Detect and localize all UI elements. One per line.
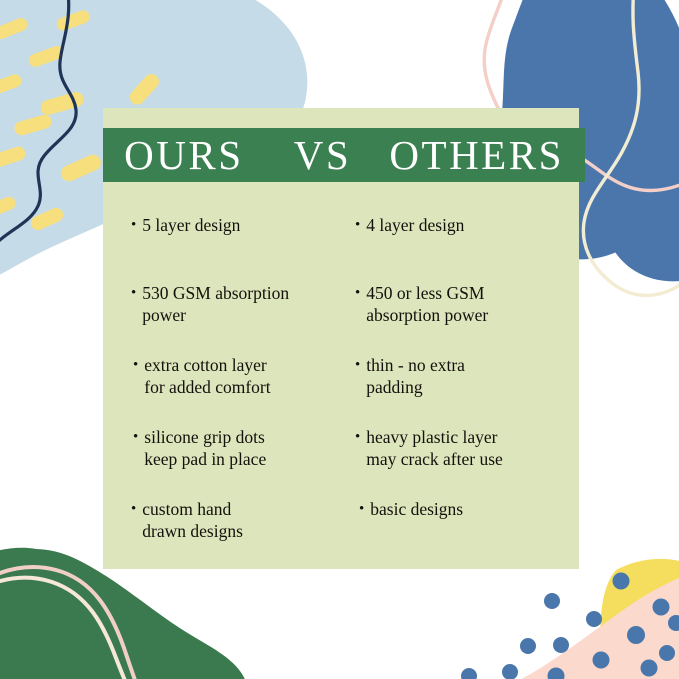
top-right-blue-blob-lobe-icon (603, 118, 679, 281)
header-band: OURS VS OTHERS (103, 128, 585, 182)
list-item: • heavy plastic layer may crack after us… (355, 426, 593, 470)
list-item: • silicone grip dots keep pad in place (133, 426, 371, 470)
bullet-icon: • (355, 282, 360, 304)
bullet-icon: • (355, 354, 360, 376)
column-ours: • 5 layer design • 530 GSM absorption po… (103, 192, 341, 569)
cream-curve-line-icon (0, 578, 140, 679)
list-item-label: 530 GSM absorption power (142, 282, 289, 326)
list-item: • 530 GSM absorption power (131, 282, 369, 326)
bottom-left-green-blob-lobe-icon (0, 548, 100, 661)
list-item-label: thin - no extra padding (366, 354, 465, 398)
poster-canvas: OURS VS OTHERS • 5 layer design • 530 GS… (0, 0, 679, 679)
bullet-icon: • (133, 354, 138, 376)
bullet-icon: • (131, 498, 136, 520)
page-title: OURS VS OTHERS (124, 135, 564, 176)
list-item: • thin - no extra padding (355, 354, 593, 398)
list-item-label: basic designs (370, 498, 463, 520)
cream-wavy-line-icon (583, 0, 679, 295)
bullet-icon: • (131, 214, 136, 236)
list-item: • 450 or less GSM absorption power (355, 282, 593, 326)
bullet-icon: • (355, 426, 360, 448)
list-item-label: 5 layer design (142, 214, 240, 236)
list-item-label: 4 layer design (366, 214, 464, 236)
bullet-icon: • (359, 498, 364, 520)
bullet-icon: • (355, 214, 360, 236)
bottom-right-pink-blob-body-icon (420, 556, 679, 679)
bottom-right-yellow-blob-icon (600, 559, 679, 679)
blue-dot-scatter-icon (461, 573, 679, 679)
navy-wavy-line-icon (0, 0, 76, 300)
comparison-card: OURS VS OTHERS • 5 layer design • 530 GS… (103, 108, 579, 569)
list-item: • extra cotton layer for added comfort (133, 354, 371, 398)
list-item: • 4 layer design (355, 214, 593, 236)
bottom-right-pink-blob-icon (436, 560, 679, 679)
columns-container: • 5 layer design • 530 GSM absorption po… (103, 192, 579, 569)
bullet-icon: • (131, 282, 136, 304)
list-item-label: silicone grip dots keep pad in place (144, 426, 266, 470)
pink-curve-line-icon (0, 567, 148, 679)
list-item: • basic designs (359, 498, 597, 520)
list-item-label: 450 or less GSM absorption power (366, 282, 488, 326)
list-item-label: custom hand drawn designs (142, 498, 243, 542)
column-others: • 4 layer design • 450 or less GSM absor… (341, 192, 579, 569)
list-item: • custom hand drawn designs (131, 498, 369, 542)
list-item-label: heavy plastic layer may crack after use (366, 426, 503, 470)
list-item-label: extra cotton layer for added comfort (144, 354, 270, 398)
list-item: • 5 layer design (131, 214, 369, 236)
bullet-icon: • (133, 426, 138, 448)
